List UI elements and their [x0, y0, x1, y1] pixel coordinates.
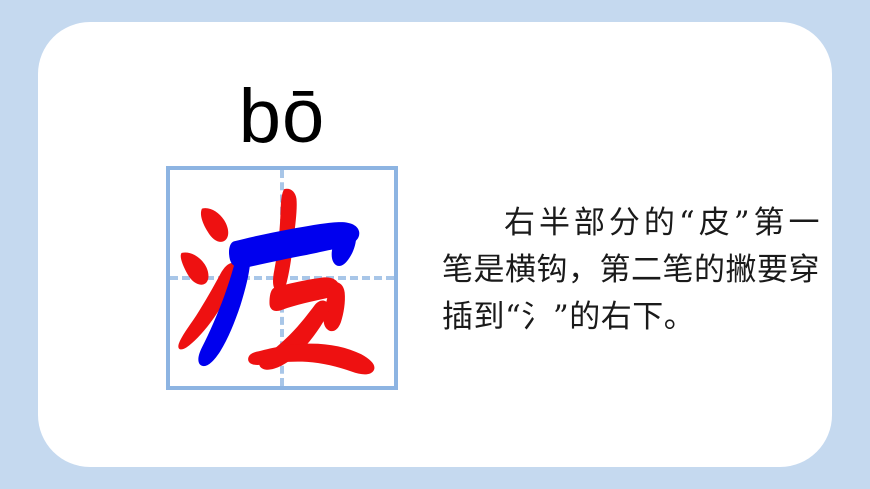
pi-component-normal-strokes: [248, 189, 374, 375]
pinyin-label: bō: [166, 74, 398, 160]
tianzige-grid: [166, 166, 398, 390]
explanation-text: 右半部分的“皮”第一笔是横钩，第二笔的撇要穿插到“氵”的右下。: [442, 200, 820, 341]
character-glyph-bo: [170, 170, 394, 386]
slide-canvas: bō: [0, 0, 870, 489]
content-card: bō: [38, 22, 832, 467]
